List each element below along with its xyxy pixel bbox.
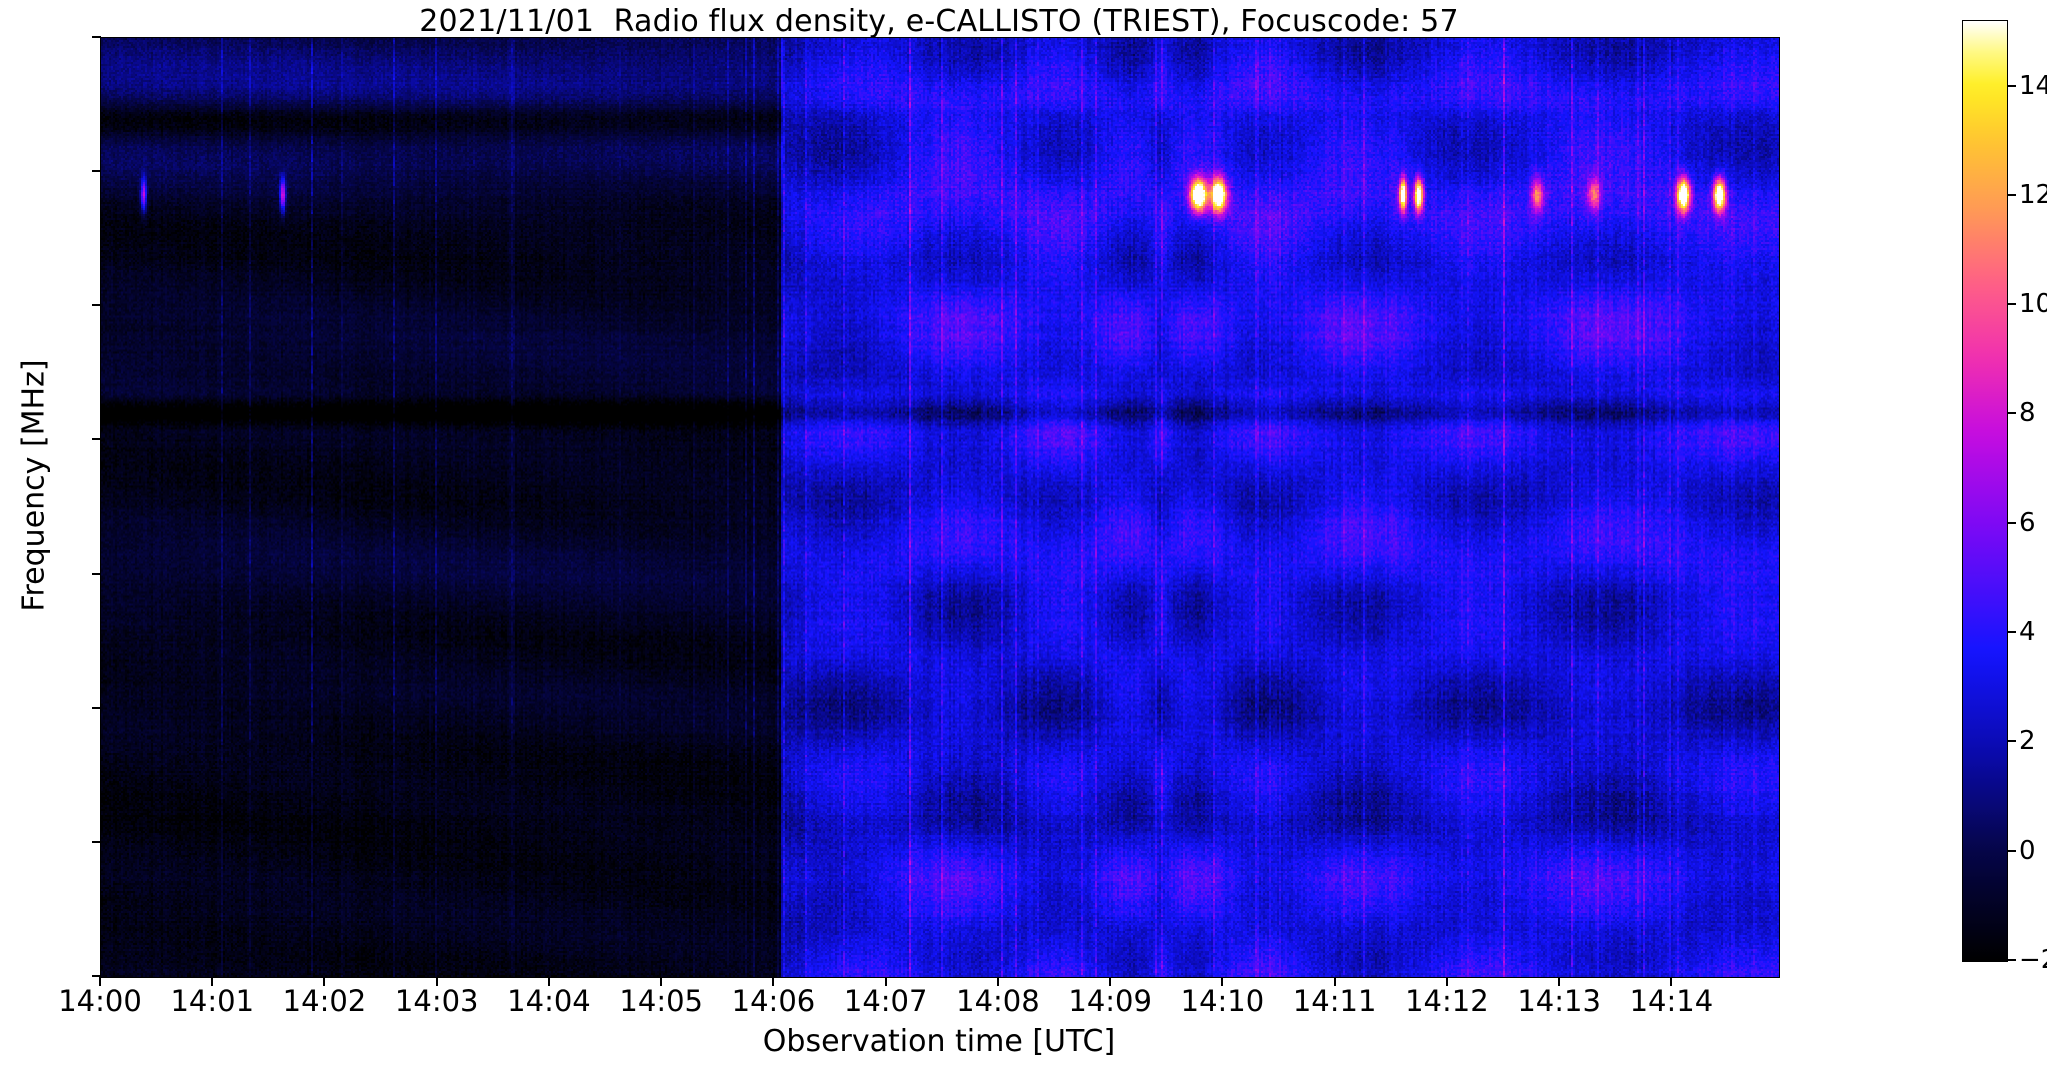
- colorbar-tick-mark: [2007, 85, 2016, 87]
- colorbar-tick-label: 8: [2019, 398, 2036, 428]
- x-axis-tick-label: 14:05: [619, 984, 703, 1018]
- spectrogram-plot-area[interactable]: [100, 37, 1780, 978]
- chart-title: 2021/11/01 Radio flux density, e-CALLIST…: [0, 4, 1878, 39]
- x-axis-tick-label: 14:00: [58, 984, 142, 1018]
- x-axis-tick-label: 14:14: [1630, 984, 1714, 1018]
- x-axis-label: Observation time [UTC]: [100, 1024, 1778, 1059]
- colorbar-tick-label: 2: [2019, 726, 2036, 756]
- x-axis-tick-label: 14:06: [732, 984, 816, 1018]
- y-axis-tick-mark: [92, 573, 101, 575]
- colorbar-gradient: [1963, 21, 2007, 961]
- y-axis-tick-mark: [92, 841, 101, 843]
- figure-root: 2021/11/01 Radio flux density, e-CALLIST…: [0, 0, 2047, 1067]
- colorbar-tick-mark: [2007, 631, 2016, 633]
- colorbar-tick-label: 0: [2019, 836, 2036, 866]
- x-axis-tick-label: 14:03: [395, 984, 479, 1018]
- colorbar-tick-label: 14: [2019, 71, 2047, 101]
- colorbar-tick-mark: [2007, 740, 2016, 742]
- x-axis-tick-label: 14:12: [1405, 984, 1489, 1018]
- y-axis-tick-mark: [92, 304, 101, 306]
- colorbar[interactable]: [1962, 20, 2008, 962]
- colorbar-tick-mark: [2007, 303, 2016, 305]
- y-axis-label: Frequency [MHz]: [17, 286, 52, 686]
- x-axis-tick-label: 14:09: [1068, 984, 1152, 1018]
- colorbar-tick-label: 12: [2019, 180, 2047, 210]
- y-axis-tick-mark: [92, 36, 101, 38]
- colorbar-tick-mark: [2007, 850, 2016, 852]
- x-axis-tick-label: 14:04: [507, 984, 591, 1018]
- x-axis-tick-label: 14:13: [1517, 984, 1601, 1018]
- colorbar-tick-mark: [2007, 522, 2016, 524]
- colorbar-tick-label: 4: [2019, 617, 2036, 647]
- y-axis-tick-mark: [92, 438, 101, 440]
- x-axis-tick-label: 14:07: [844, 984, 928, 1018]
- y-axis-tick-mark: [92, 170, 101, 172]
- colorbar-tick-mark: [2007, 959, 2016, 961]
- x-axis-tick-label: 14:01: [170, 984, 254, 1018]
- x-axis-tick-label: 14:10: [1181, 984, 1265, 1018]
- colorbar-tick-mark: [2007, 412, 2016, 414]
- colorbar-tick-label: 10: [2019, 289, 2047, 319]
- spectrogram-image: [101, 38, 1779, 977]
- colorbar-tick-mark: [2007, 194, 2016, 196]
- x-axis-tick-label: 14:08: [956, 984, 1040, 1018]
- x-axis-tick-label: 14:02: [283, 984, 367, 1018]
- colorbar-tick-label: −2: [2019, 945, 2047, 975]
- spectrogram-canvas: [101, 38, 1779, 977]
- colorbar-tick-label: 6: [2019, 508, 2036, 538]
- y-axis-tick-mark: [92, 707, 101, 709]
- x-axis-tick-label: 14:11: [1293, 984, 1377, 1018]
